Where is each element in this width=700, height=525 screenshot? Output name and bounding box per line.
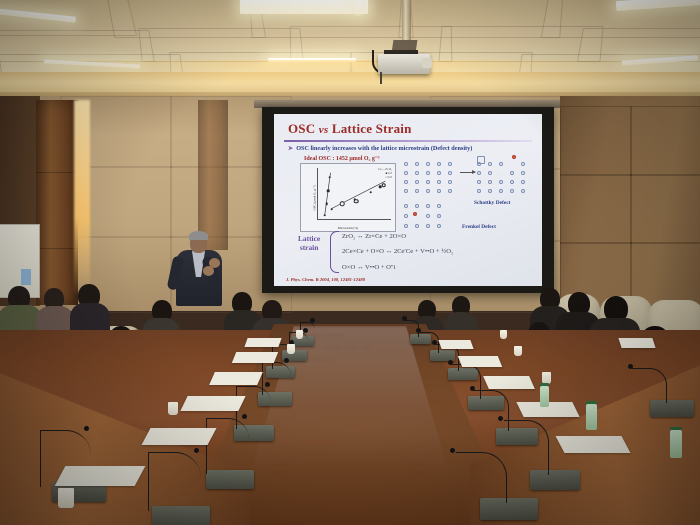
lattice-array-left [404, 162, 466, 196]
schottky-defect-label: Schottky Defect [474, 200, 510, 206]
water-bottle [540, 386, 549, 407]
lattice-array-frenkel [404, 204, 456, 232]
slide-citation: J. Phys. Chem. B 2004, 108, 12481-12488 [286, 277, 365, 282]
transition-arrow-icon [460, 172, 475, 173]
bullet-arrow-icon: ➤ [288, 145, 293, 152]
osc-microstrain-chart: OSC (μmol O₂ g⁻¹) Microstrain (%) Ce₁₋ₓZ… [300, 163, 396, 232]
reflection-frenkel: Frenkel Defect [302, 438, 332, 443]
slide-title: OSC vs Lattice Strain [288, 121, 412, 137]
wood-column-left [36, 100, 78, 305]
title-divider [284, 140, 532, 142]
right-wall [560, 96, 700, 316]
accent-light-strip-left [74, 100, 90, 296]
equation-brace [330, 231, 339, 273]
lattice-strain-label: Lattice strain [298, 234, 320, 253]
photo-scene: OSC vs Lattice Strain ➤OSC linearly incr… [0, 0, 700, 525]
chart-xlabel: Microstrain (%) [301, 226, 395, 230]
slide-bullet: ➤OSC linearly increases with the lattice… [288, 145, 534, 152]
equation-1: ZrO₂ ↔ Zr×Ce + 2O×O [342, 233, 406, 240]
equation-2: 2Ce×Ce + O×O ↔ 2Ce′Ce + V••O + ½O₂ [342, 248, 453, 255]
water-bottle [586, 404, 597, 430]
water-bottle [670, 430, 682, 458]
projected-slide: OSC vs Lattice Strain ➤OSC linearly incr… [274, 114, 542, 286]
chart-caption: Ideal OSC : 1452 μmol O₂ g⁻¹ [304, 155, 380, 162]
equation-3: O×O ↔ V••O + O″i [342, 264, 396, 271]
wood-column-mid [198, 100, 228, 250]
lattice-array-right [477, 156, 539, 196]
frenkel-defect-label: Frenkel Defect [462, 224, 496, 230]
chart-ylabel: OSC (μmol O₂ g⁻¹) [313, 185, 317, 210]
chart-plot-area [317, 168, 391, 220]
ceiling [0, 0, 700, 96]
